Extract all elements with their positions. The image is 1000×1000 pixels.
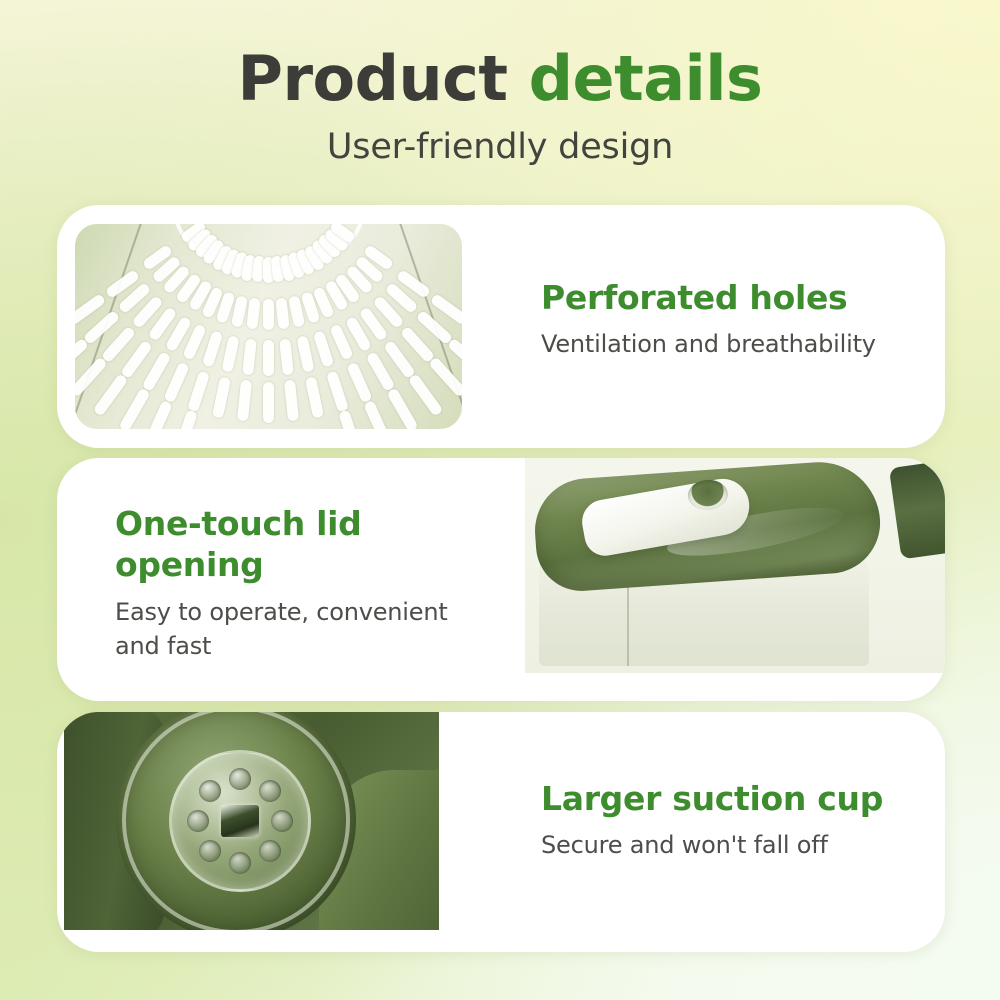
lid-latch-photo — [525, 458, 945, 673]
suction-hole — [199, 840, 221, 862]
feature-heading: Perforated holes — [541, 277, 931, 318]
page-subtitle: User-friendly design — [0, 127, 1000, 167]
tray-slot — [263, 299, 274, 330]
tray-slot — [275, 297, 289, 329]
suction-scene — [64, 712, 439, 930]
tray-slot — [202, 330, 224, 368]
tray-slot — [247, 297, 261, 329]
tray-slot — [428, 356, 462, 398]
tray-slot — [346, 362, 373, 404]
tray-slot — [93, 373, 129, 417]
feature-text-suction-cup: Larger suction cup Secure and won't fall… — [541, 778, 941, 863]
feature-heading: One-touch lid opening — [115, 503, 465, 586]
tray-slot — [263, 382, 274, 423]
lid-side-wall — [889, 461, 945, 560]
page-title-green-word: details — [508, 42, 763, 115]
feature-text-perforated-holes: Perforated holes Ventilation and breatha… — [541, 277, 931, 362]
suction-center-square — [221, 805, 259, 837]
product-details-infographic: Product details User-friendly design Per… — [0, 0, 1000, 1000]
tray-slot — [212, 376, 231, 418]
tray-slot — [326, 370, 349, 412]
feature-subtext: Easy to operate, convenient and fast — [115, 595, 465, 665]
page-title-dark-word: Product — [238, 42, 508, 115]
tray-slot — [221, 335, 239, 373]
page-title: Product details — [0, 0, 1000, 110]
suction-hole — [259, 780, 281, 802]
lid-scene — [525, 458, 945, 673]
suction-hole — [199, 780, 221, 802]
page-header: Product details User-friendly design — [0, 0, 1000, 167]
suction-hole — [229, 852, 251, 874]
suction-cup-photo — [64, 712, 439, 930]
tray-slot — [338, 409, 363, 429]
tray-slot — [279, 339, 294, 376]
tray-slot — [164, 362, 191, 404]
tray-slot — [118, 387, 151, 429]
feature-subtext: Secure and won't fall off — [541, 828, 941, 863]
tray-slot — [263, 340, 274, 376]
tray-slot — [237, 380, 252, 422]
tray-slot — [187, 370, 210, 412]
perforated-tray-photo — [75, 224, 462, 429]
suction-hole — [229, 768, 251, 790]
suction-clear-valve — [169, 750, 311, 892]
suction-hole — [271, 810, 293, 832]
tray-slot — [408, 373, 444, 417]
tray-surface — [75, 224, 462, 429]
tray-slot — [296, 335, 314, 373]
tray-slot — [305, 376, 324, 418]
feature-text-one-touch-lid: One-touch lid opening Easy to operate, c… — [115, 503, 465, 664]
feature-card-one-touch-lid: One-touch lid opening Easy to operate, c… — [57, 458, 945, 701]
tray-slot — [313, 330, 335, 368]
lid-green-rim — [532, 458, 884, 594]
tray-slot — [284, 380, 299, 422]
suction-hole — [259, 840, 281, 862]
feature-subtext: Ventilation and breathability — [541, 327, 931, 362]
feature-heading: Larger suction cup — [541, 778, 941, 819]
tray-slot — [363, 400, 392, 429]
tray-slot — [145, 400, 174, 429]
feature-card-perforated-holes: Perforated holes Ventilation and breatha… — [57, 205, 945, 448]
feature-card-suction-cup: Larger suction cup Secure and won't fall… — [57, 712, 945, 952]
tray-slot — [141, 351, 171, 392]
suction-hole — [187, 810, 209, 832]
tray-slot — [242, 339, 257, 376]
tray-slot — [386, 387, 419, 429]
tray-slot — [173, 409, 198, 429]
